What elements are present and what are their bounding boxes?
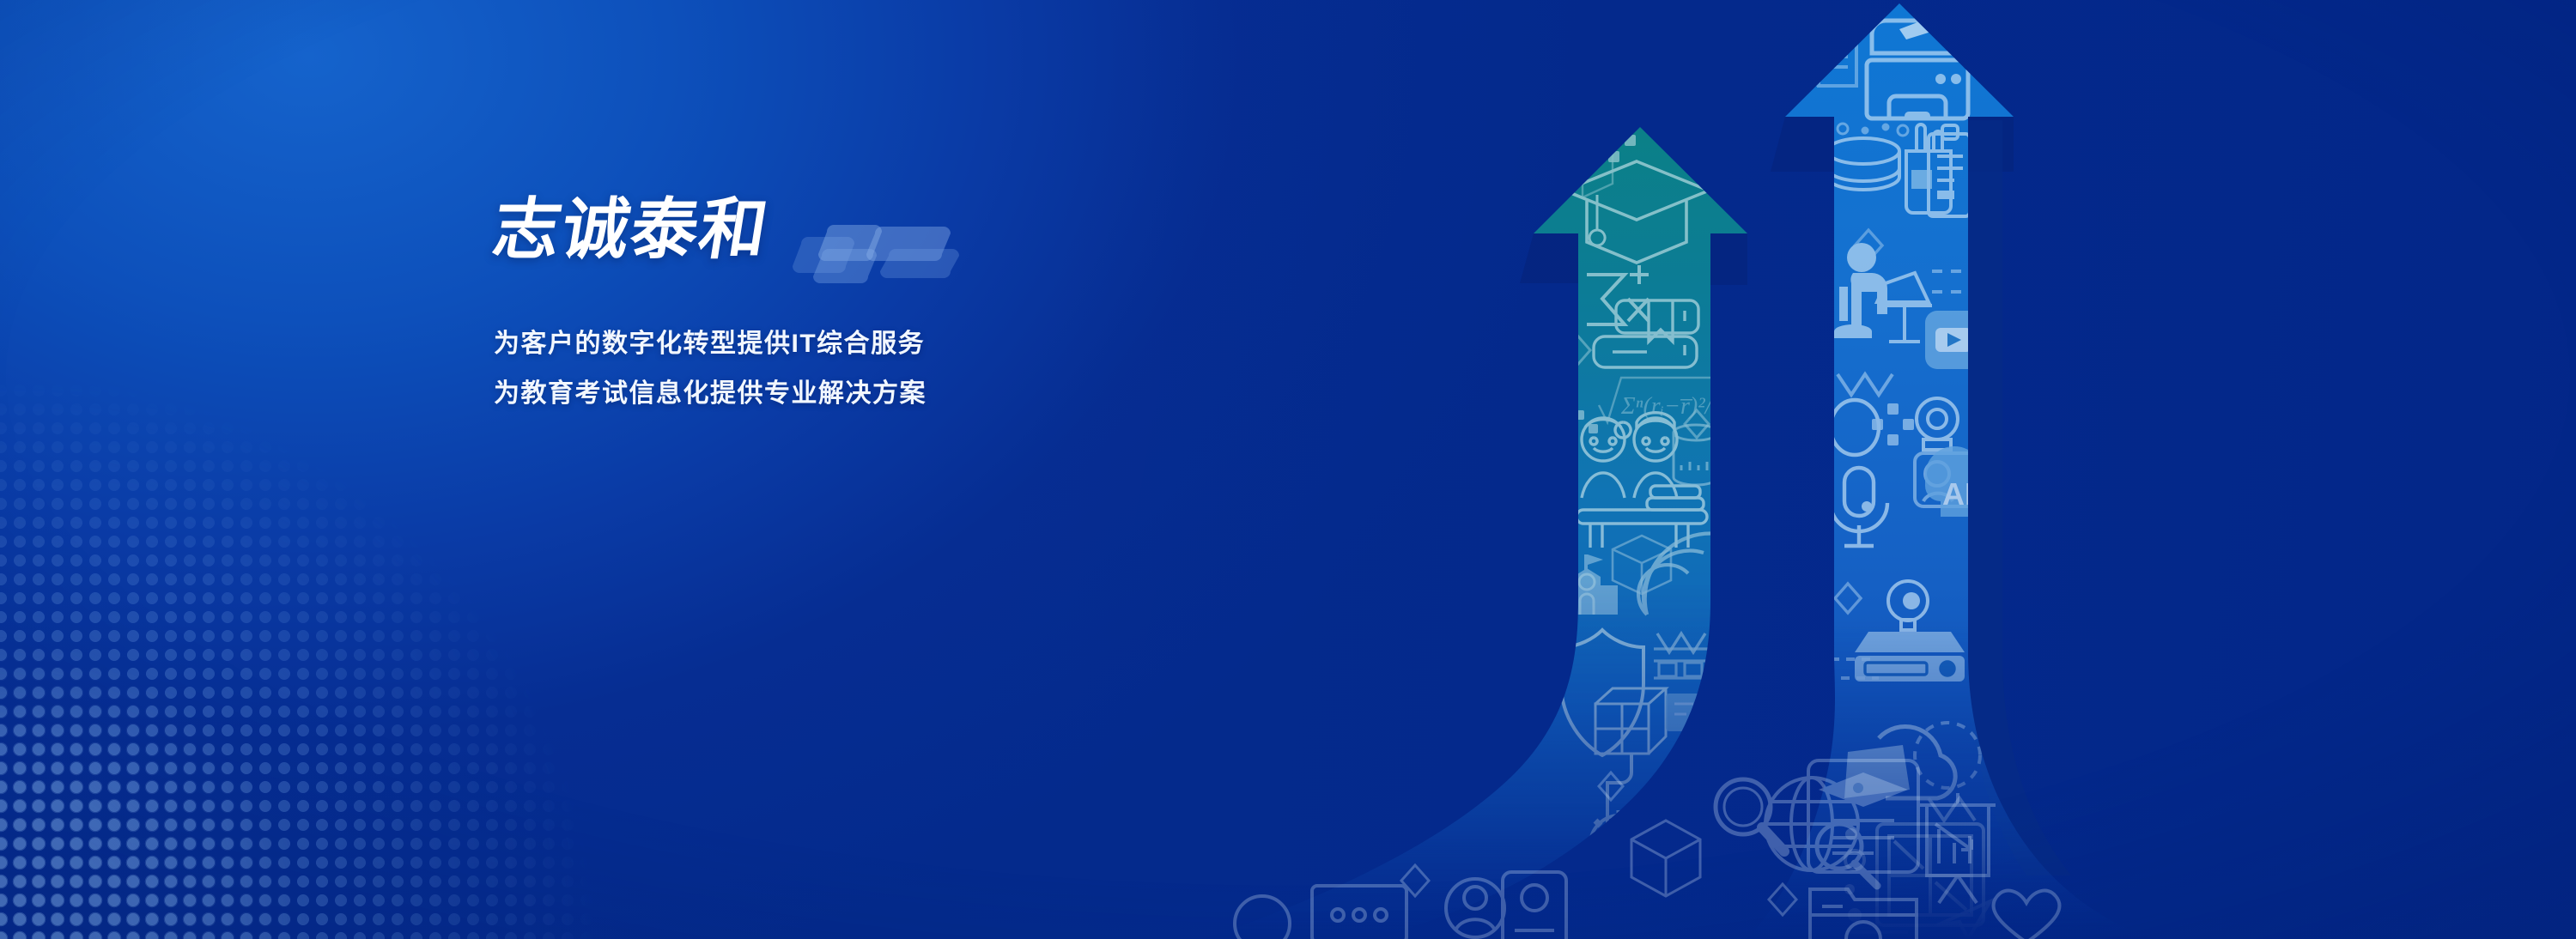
hero-banner: Σⁿ(rᵢ−r̅)²/n — [0, 0, 2576, 939]
vignette-overlay — [0, 0, 2576, 939]
